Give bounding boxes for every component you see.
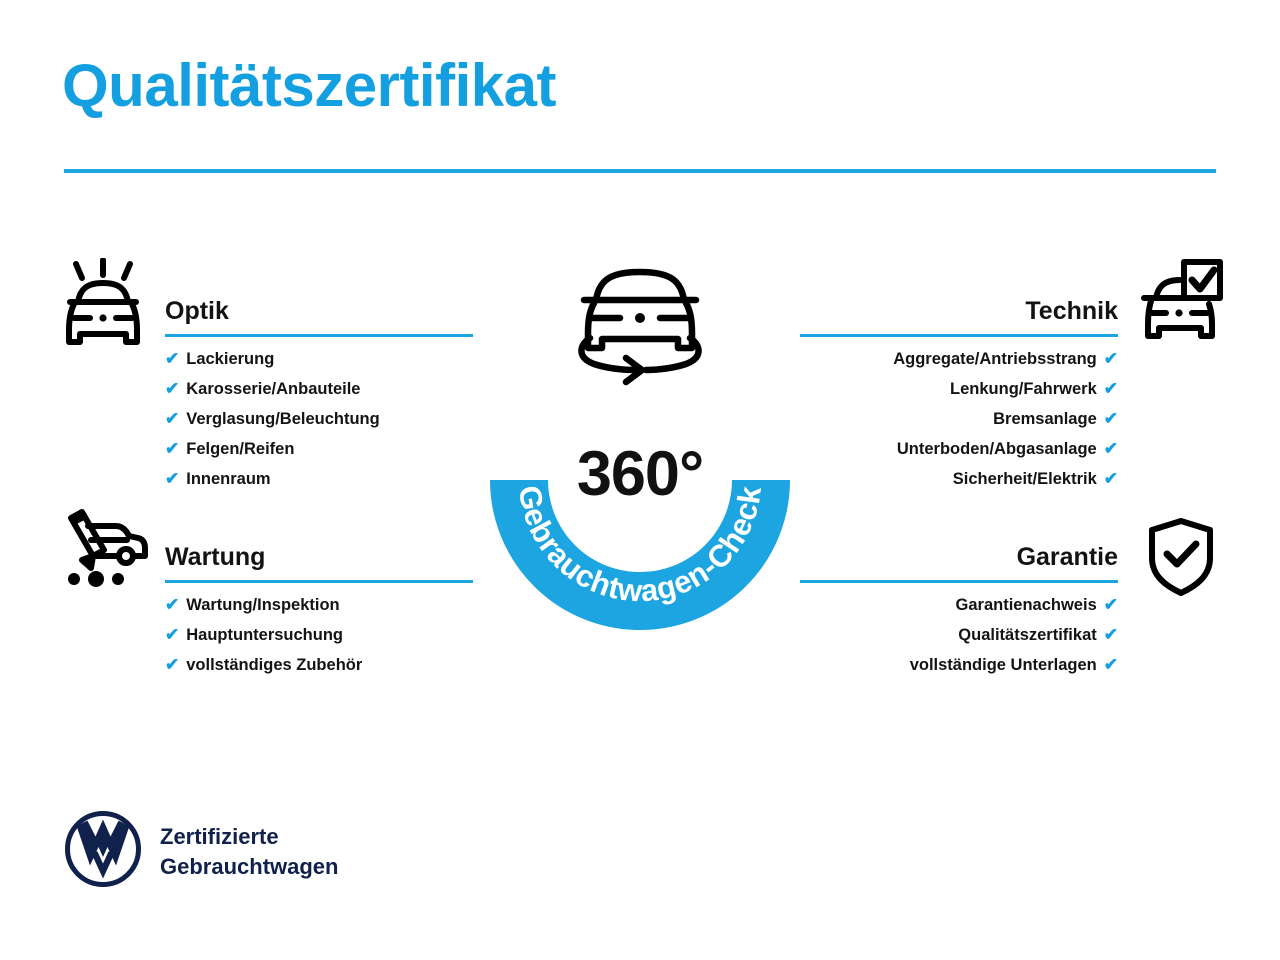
header-divider — [64, 169, 1216, 173]
list-item-label: vollständige Unterlagen — [910, 656, 1097, 675]
list-item: ✔ Felgen/Reifen — [165, 440, 473, 470]
section-header: Technik — [800, 288, 1118, 334]
section-title: Optik — [165, 297, 229, 326]
list-item-label: Karosserie/Anbauteile — [186, 380, 360, 399]
badge-center-label: 360° — [472, 438, 808, 510]
section-divider — [800, 334, 1118, 337]
car-shine-icon — [60, 258, 146, 355]
check-icon: ✔ — [1104, 470, 1118, 487]
section-title: Wartung — [165, 543, 265, 572]
list-item-label: Verglasung/Beleuchtung — [186, 410, 379, 429]
check-icon: ✔ — [165, 440, 179, 457]
quality-certificate-page: Qualitätszertifikat — [0, 0, 1280, 960]
list-item: Aggregate/Antriebsstrang ✔ — [800, 350, 1118, 380]
check-icon: ✔ — [165, 656, 179, 673]
car-service-pencil-icon — [58, 508, 150, 597]
check-icon: ✔ — [165, 380, 179, 397]
list-item-label: Garantienachweis — [956, 596, 1097, 615]
list-item: ✔ Wartung/Inspektion — [165, 596, 473, 626]
vw-certified-footer: Zertifizierte Gebrauchtwagen — [64, 810, 338, 893]
section-title: Garantie — [1017, 543, 1118, 572]
list-item-label: vollständiges Zubehör — [186, 656, 362, 675]
check-icon: ✔ — [1104, 350, 1118, 367]
vw-label-line2: Gebrauchtwagen — [160, 854, 338, 879]
check-icon: ✔ — [1104, 656, 1118, 673]
list-item-label: Wartung/Inspektion — [186, 596, 339, 615]
check-icon: ✔ — [1104, 410, 1118, 427]
list-item-label: Aggregate/Antriebsstrang — [893, 350, 1097, 369]
check-icon: ✔ — [1104, 626, 1118, 643]
list-item: Qualitätszertifikat ✔ — [800, 626, 1118, 656]
section-divider — [800, 580, 1118, 583]
list-item: vollständige Unterlagen ✔ — [800, 656, 1118, 686]
shield-check-icon — [1146, 516, 1216, 603]
list-item: ✔ vollständiges Zubehör — [165, 656, 473, 686]
list-item-label: Innenraum — [186, 470, 270, 489]
list-item-label: Bremsanlage — [993, 410, 1097, 429]
list-item: ✔ Karosserie/Anbauteile — [165, 380, 473, 410]
vw-logo-icon — [64, 810, 142, 893]
checklist-optik: ✔ Lackierung ✔ Karosserie/Anbauteile ✔ V… — [165, 350, 473, 500]
check-icon: ✔ — [165, 626, 179, 643]
check-icon: ✔ — [165, 410, 179, 427]
check-icon: ✔ — [1104, 440, 1118, 457]
section-title: Technik — [1025, 297, 1118, 326]
section-optik: Optik ✔ Lackierung ✔ Karosserie/Anbautei… — [165, 288, 473, 334]
check-icon: ✔ — [165, 596, 179, 613]
list-item-label: Qualitätszertifikat — [958, 626, 1096, 645]
section-header: Wartung — [165, 534, 473, 580]
list-item: ✔ Lackierung — [165, 350, 473, 380]
list-item-label: Hauptuntersuchung — [186, 626, 343, 645]
list-item: ✔ Verglasung/Beleuchtung — [165, 410, 473, 440]
car-rotate-360-icon — [581, 272, 698, 382]
vw-certified-label: Zertifizierte Gebrauchtwagen — [160, 822, 338, 880]
car-checkbox-icon — [1136, 258, 1224, 347]
list-item: Garantienachweis ✔ — [800, 596, 1118, 626]
list-item-label: Sicherheit/Elektrik — [953, 470, 1097, 489]
check-icon: ✔ — [165, 350, 179, 367]
list-item: Sicherheit/Elektrik ✔ — [800, 470, 1118, 500]
page-title: Qualitätszertifikat — [62, 54, 556, 117]
check-icon: ✔ — [1104, 380, 1118, 397]
section-garantie: Garantie Garantienachweis ✔ Qualitätszer… — [800, 534, 1118, 580]
list-item: Unterboden/Abgasanlage ✔ — [800, 440, 1118, 470]
section-wartung: Wartung ✔ Wartung/Inspektion ✔ Hauptunte… — [165, 534, 473, 580]
section-divider — [165, 580, 473, 583]
list-item: Bremsanlage ✔ — [800, 410, 1118, 440]
list-item-label: Lackierung — [186, 350, 274, 369]
checklist-garantie: Garantienachweis ✔ Qualitätszertifikat ✔… — [800, 596, 1118, 686]
checklist-technik: Aggregate/Antriebsstrang ✔ Lenkung/Fahrw… — [800, 350, 1118, 500]
gebrauchtwagen-check-badge: Gebrauchtwagen-Check 360° — [472, 248, 808, 640]
list-item: ✔ Hauptuntersuchung — [165, 626, 473, 656]
list-item: ✔ Innenraum — [165, 470, 473, 500]
section-header: Garantie — [800, 534, 1118, 580]
section-divider — [165, 334, 473, 337]
check-icon: ✔ — [1104, 596, 1118, 613]
section-technik: Technik Aggregate/Antriebsstrang ✔ Lenku… — [800, 288, 1118, 334]
vw-label-line1: Zertifizierte — [160, 824, 279, 849]
list-item-label: Lenkung/Fahrwerk — [950, 380, 1097, 399]
list-item-label: Unterboden/Abgasanlage — [897, 440, 1097, 459]
list-item: Lenkung/Fahrwerk ✔ — [800, 380, 1118, 410]
check-icon: ✔ — [165, 470, 179, 487]
list-item-label: Felgen/Reifen — [186, 440, 294, 459]
section-header: Optik — [165, 288, 473, 334]
checklist-wartung: ✔ Wartung/Inspektion ✔ Hauptuntersuchung… — [165, 596, 473, 686]
